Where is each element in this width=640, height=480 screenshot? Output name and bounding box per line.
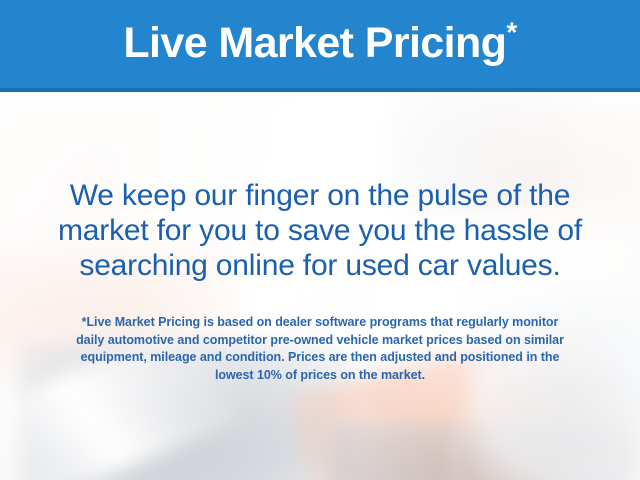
disclaimer-text: *Live Market Pricing is based on dealer … <box>22 314 618 384</box>
headline-line-2: market for you to save you the hassle of <box>0 213 640 248</box>
headline-line-1: We keep our finger on the pulse of the <box>0 178 640 213</box>
footnote-asterisk: * <box>506 16 516 47</box>
headline-text: We keep our finger on the pulse of the m… <box>0 178 640 283</box>
page-title-text: Live Market Pricing <box>123 19 506 67</box>
header-banner: Live Market Pricing* <box>0 0 640 92</box>
disclaimer-line-4: lowest 10% of prices on the market. <box>22 367 618 385</box>
content-area: We keep our finger on the pulse of the m… <box>0 92 640 480</box>
disclaimer-line-1: *Live Market Pricing is based on dealer … <box>22 314 618 332</box>
headline-line-3: searching online for used car values. <box>0 248 640 283</box>
disclaimer-line-3: equipment, mileage and condition. Prices… <box>22 349 618 367</box>
live-market-pricing-promo-card: Live Market Pricing* We keep our finger … <box>0 0 640 480</box>
page-title: Live Market Pricing* <box>123 22 516 65</box>
disclaimer-line-2: daily automotive and competitor pre-owne… <box>22 332 618 350</box>
